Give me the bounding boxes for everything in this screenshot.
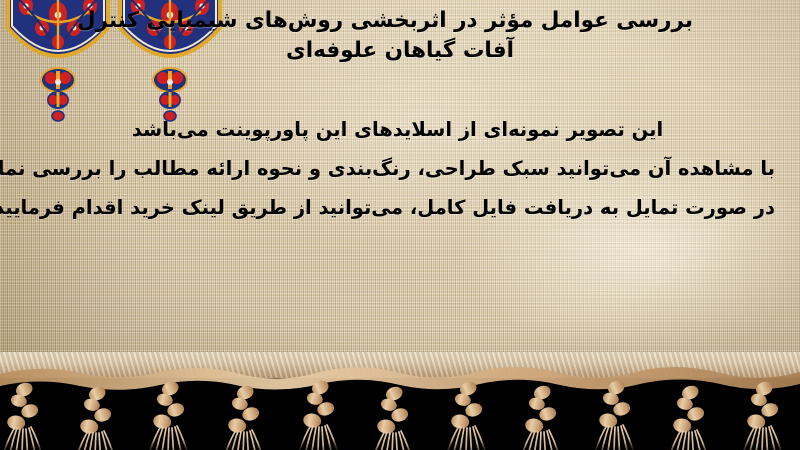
slide-body-line-3: در صورت تمایل به دریافت فایل کامل، می‌تو… <box>20 188 775 227</box>
slide-canvas: بررسی عوامل مؤثر در اثربخشی روش‌های شیمی… <box>0 0 800 450</box>
carpet-knotted-fringe <box>0 358 800 450</box>
slide-body: این تصویر نمونه‌ای از اسلایدهای این پاور… <box>20 110 775 227</box>
slide-body-line-1: این تصویر نمونه‌ای از اسلایدهای این پاور… <box>20 110 775 149</box>
slide-title-line-2: آفات گیاهان علوفه‌ای <box>15 36 785 66</box>
slide-body-line-2: با مشاهده آن می‌توانید سبک طراحی، رنگ‌بن… <box>20 149 775 188</box>
slide-title-line-1: بررسی عوامل مؤثر در اثربخشی روش‌های شیمی… <box>15 6 785 36</box>
slide-title: بررسی عوامل مؤثر در اثربخشی روش‌های شیمی… <box>15 6 785 66</box>
